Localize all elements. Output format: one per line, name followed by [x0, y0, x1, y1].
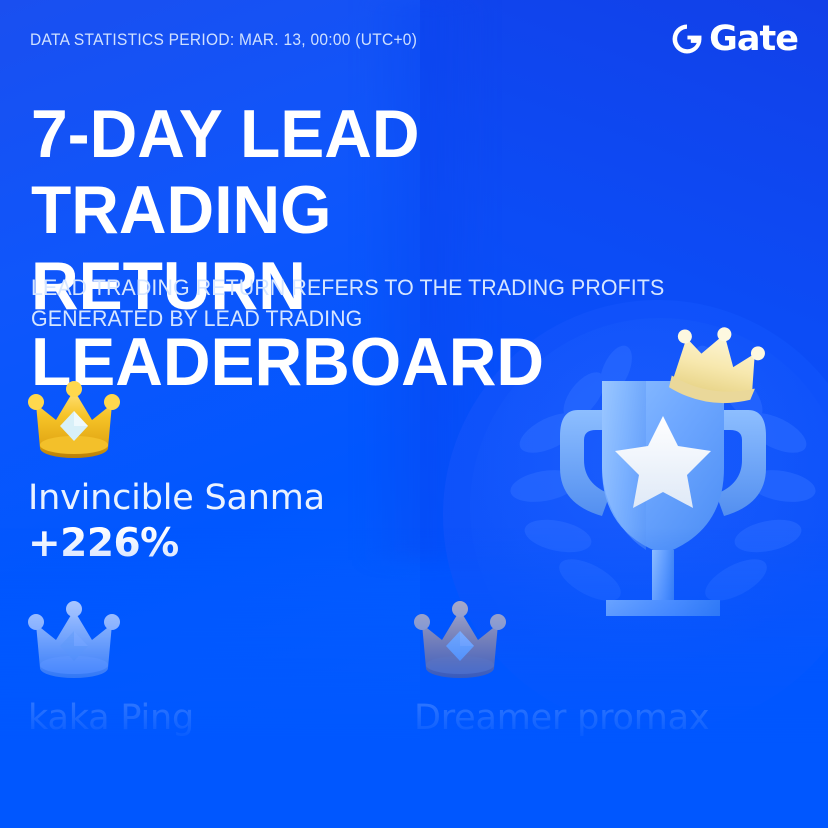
gold-crown-icon [28, 378, 325, 473]
page-title-line1: 7-DAY LEAD TRADING [31, 96, 420, 248]
gate-wordmark: Gate [709, 22, 798, 56]
leaderboard-poster: DATA STATISTICS PERIOD: MAR. 13, 00:00 (… [0, 0, 828, 828]
winner-name: Invincible Sanma [28, 477, 325, 519]
data-period-label: DATA STATISTICS PERIOD: MAR. 13, 00:00 (… [30, 31, 417, 50]
page-subtitle-line1: LEAD TRADING RETURN REFERS TO THE TRADIN… [31, 275, 664, 300]
background-bottom-fade [0, 528, 828, 828]
page-title: 7-DAY LEAD TRADING RETURN LEADERBOARD [31, 96, 710, 400]
page-subtitle-line2: GENERATED BY LEAD TRADING [31, 306, 362, 331]
page-subtitle: LEAD TRADING RETURN REFERS TO THE TRADIN… [31, 272, 687, 334]
gate-circle-logo-icon [670, 22, 704, 56]
poster-header: DATA STATISTICS PERIOD: MAR. 13, 00:00 (… [0, 0, 828, 78]
gate-logo: Gate [670, 22, 798, 56]
